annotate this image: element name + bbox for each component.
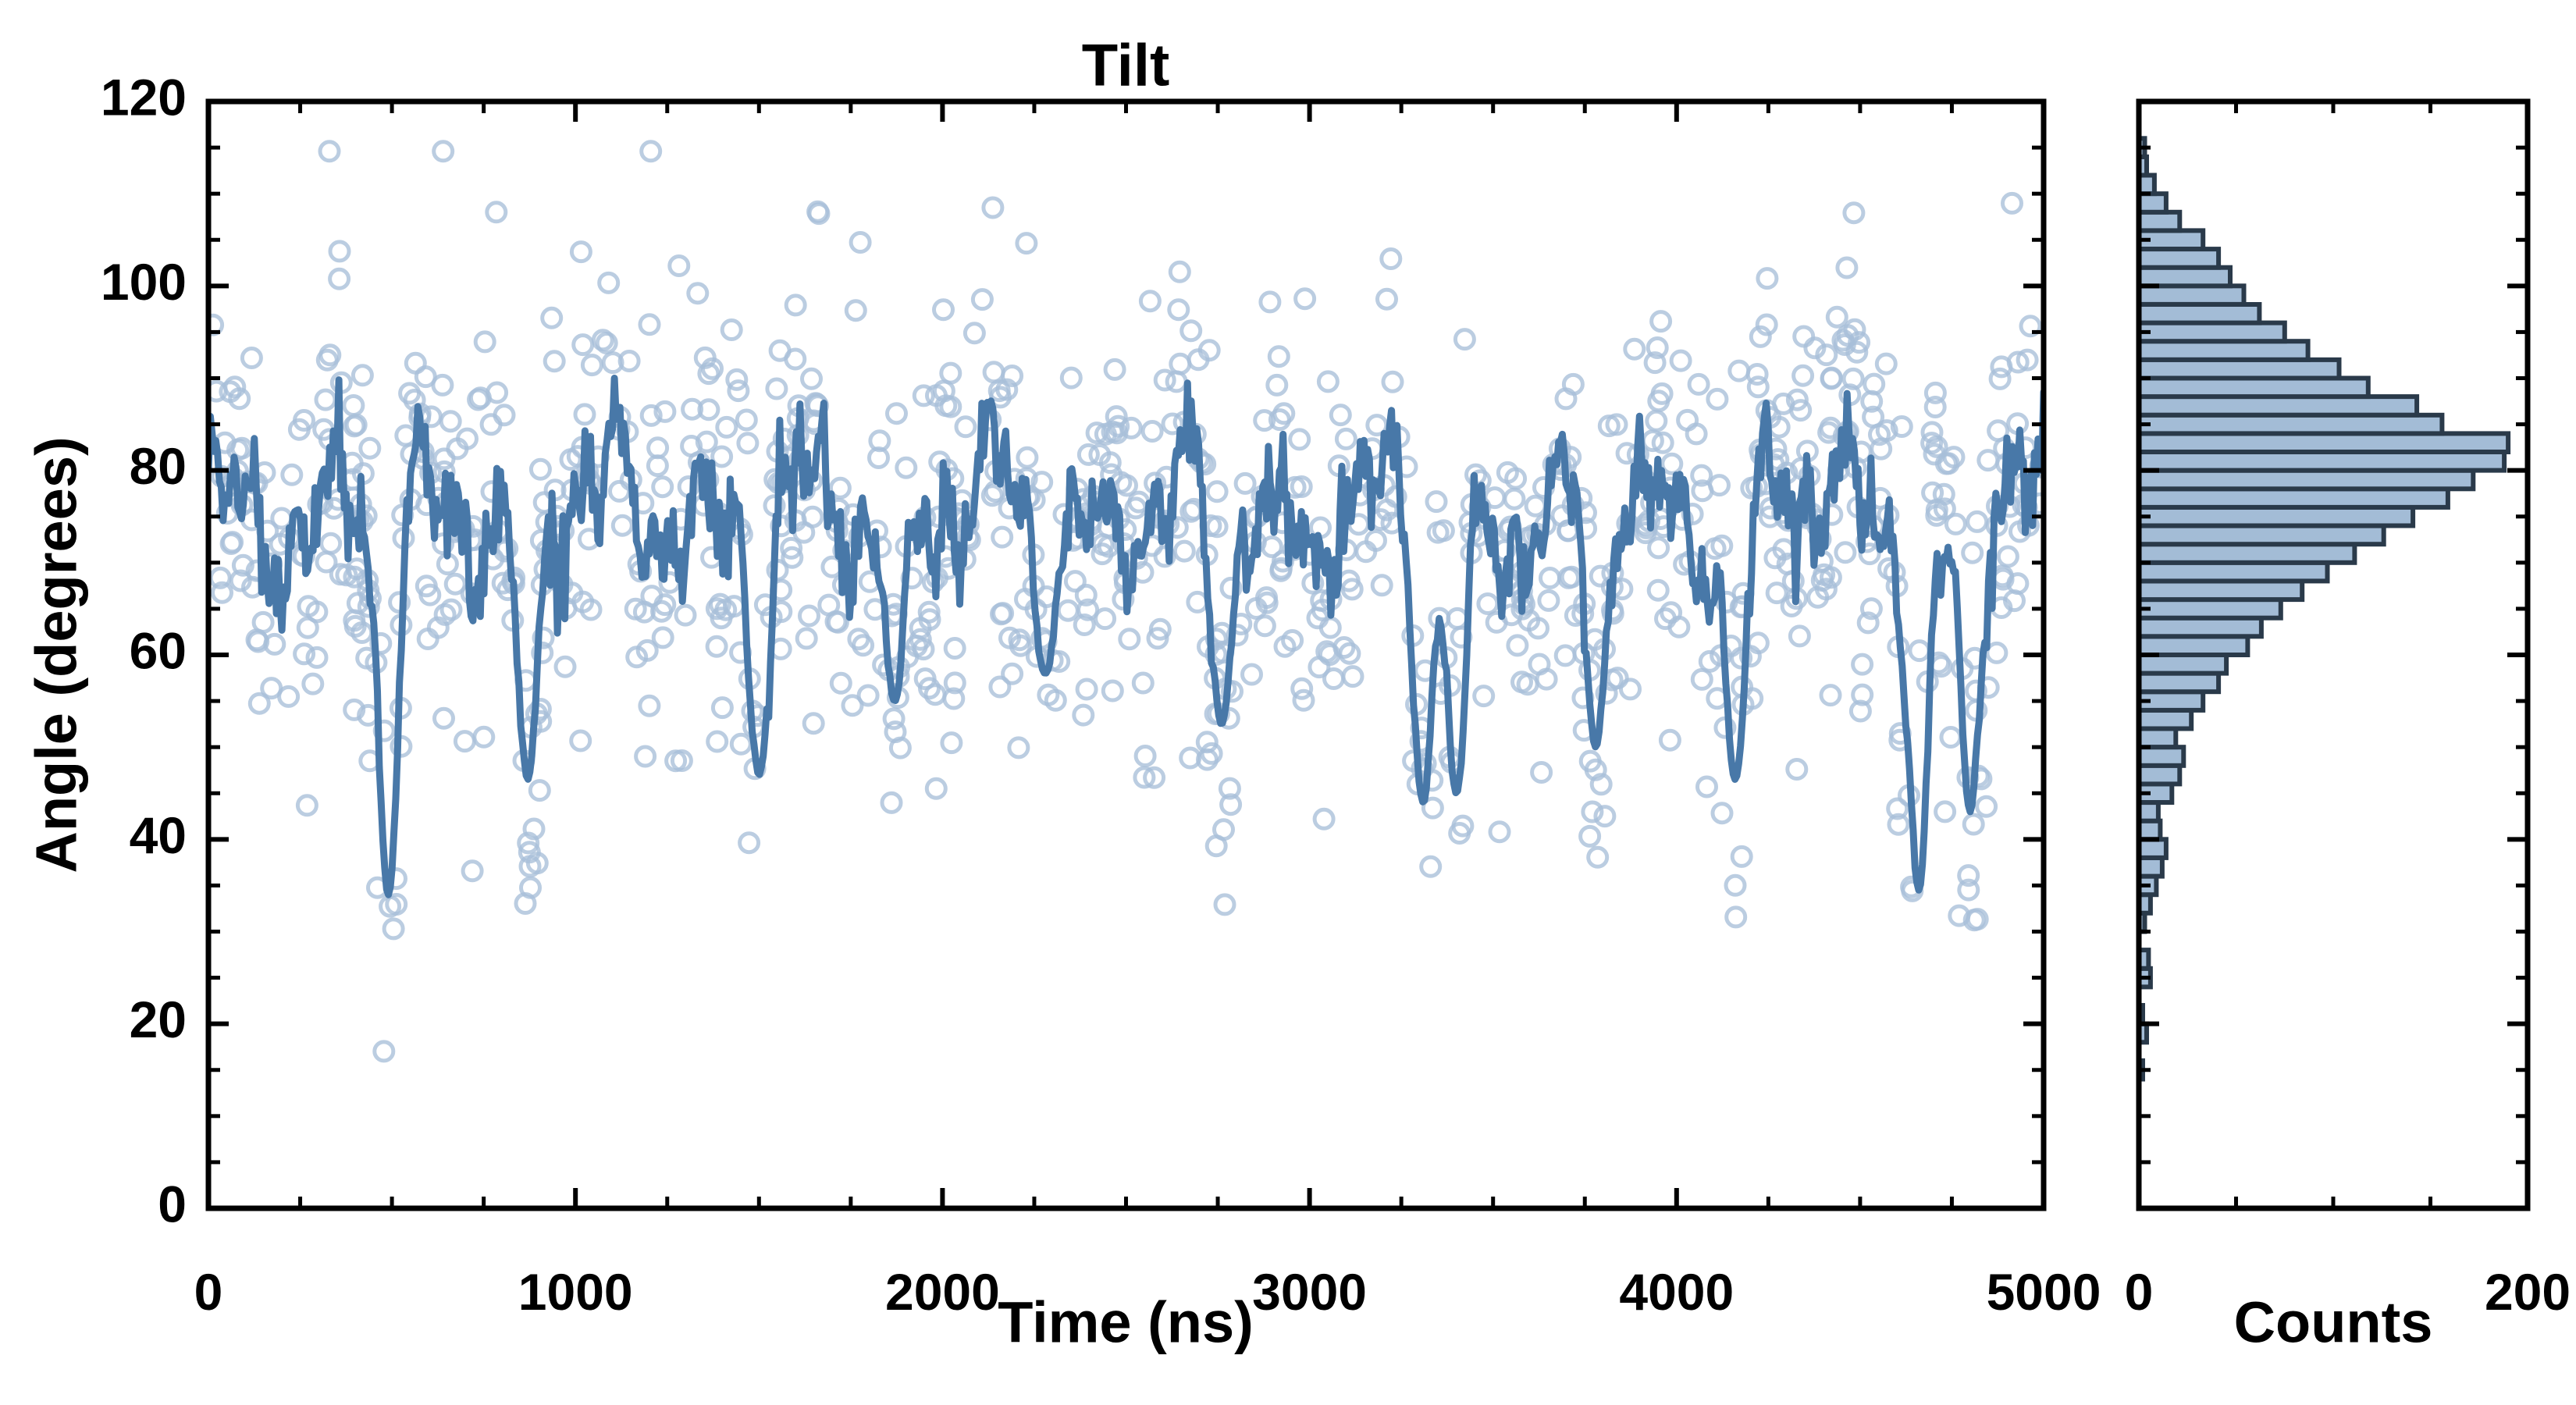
histogram-bar [2139, 802, 2158, 821]
histogram-bar [2139, 674, 2218, 692]
histogram-bar [2139, 415, 2442, 434]
page-title: Tilt [1082, 32, 1170, 98]
histogram-bar [2139, 821, 2160, 840]
y-tick-label: 60 [130, 621, 187, 679]
histogram-bar [2139, 397, 2417, 415]
y-tick-label: 80 [130, 437, 187, 495]
histogram-bar [2139, 489, 2448, 507]
histogram-bar [2139, 729, 2176, 748]
histogram-bar [2139, 471, 2473, 489]
histogram-bar [2139, 212, 2179, 231]
x-tick-label: 1000 [518, 1263, 633, 1321]
histogram-bar [2139, 433, 2508, 452]
x-tick-label: 4000 [1619, 1263, 1734, 1321]
y-axis-title: Angle (degrees) [24, 436, 89, 873]
x-tick-label: 5000 [1987, 1263, 2101, 1321]
histogram-bar [2139, 249, 2218, 268]
x-axis-title: Time (ns) [998, 1290, 1254, 1355]
histogram-bar [2139, 747, 2183, 766]
histogram-bar [2139, 618, 2261, 637]
y-tick-label: 120 [101, 68, 187, 126]
histogram-bar [2139, 710, 2191, 729]
y-tick-label: 100 [101, 253, 187, 311]
figure-canvas: Tilt 010002000300040005000 0204060801001… [0, 0, 2576, 1405]
hist-x-tick-label: 0 [2125, 1263, 2154, 1321]
histogram-bar [2139, 507, 2413, 526]
histogram-bar [2139, 194, 2166, 212]
histogram-bar [2139, 526, 2384, 545]
histogram-bar [2139, 636, 2247, 655]
y-tick-label: 40 [130, 806, 187, 864]
histogram-bar [2139, 544, 2354, 563]
x-tick-label: 0 [194, 1263, 223, 1321]
histogram-bar [2139, 268, 2230, 286]
histogram-bar [2139, 304, 2259, 323]
histogram-bar [2139, 599, 2281, 618]
histogram-bar [2139, 563, 2328, 582]
histogram-bar [2139, 323, 2285, 342]
x-tick-label: 3000 [1252, 1263, 1367, 1321]
y-tick-label: 20 [130, 991, 187, 1048]
hist-x-tick-label: 200 [2485, 1263, 2571, 1321]
histogram-bar [2139, 858, 2162, 877]
histogram-bar [2139, 766, 2179, 784]
figure-root: Tilt 010002000300040005000 0204060801001… [0, 0, 2576, 1405]
histogram-x-axis-title: Counts [2234, 1290, 2433, 1355]
histogram-bar [2139, 839, 2166, 858]
histogram-bar [2139, 379, 2368, 397]
x-tick-label: 2000 [885, 1263, 1000, 1321]
histogram-bar [2139, 341, 2308, 360]
y-tick-label: 0 [158, 1175, 187, 1232]
histogram-bar [2139, 655, 2226, 674]
histogram-bar [2139, 360, 2339, 379]
histogram-bar [2139, 286, 2244, 304]
histogram-bar [2139, 582, 2302, 600]
histogram-bar [2139, 452, 2504, 471]
